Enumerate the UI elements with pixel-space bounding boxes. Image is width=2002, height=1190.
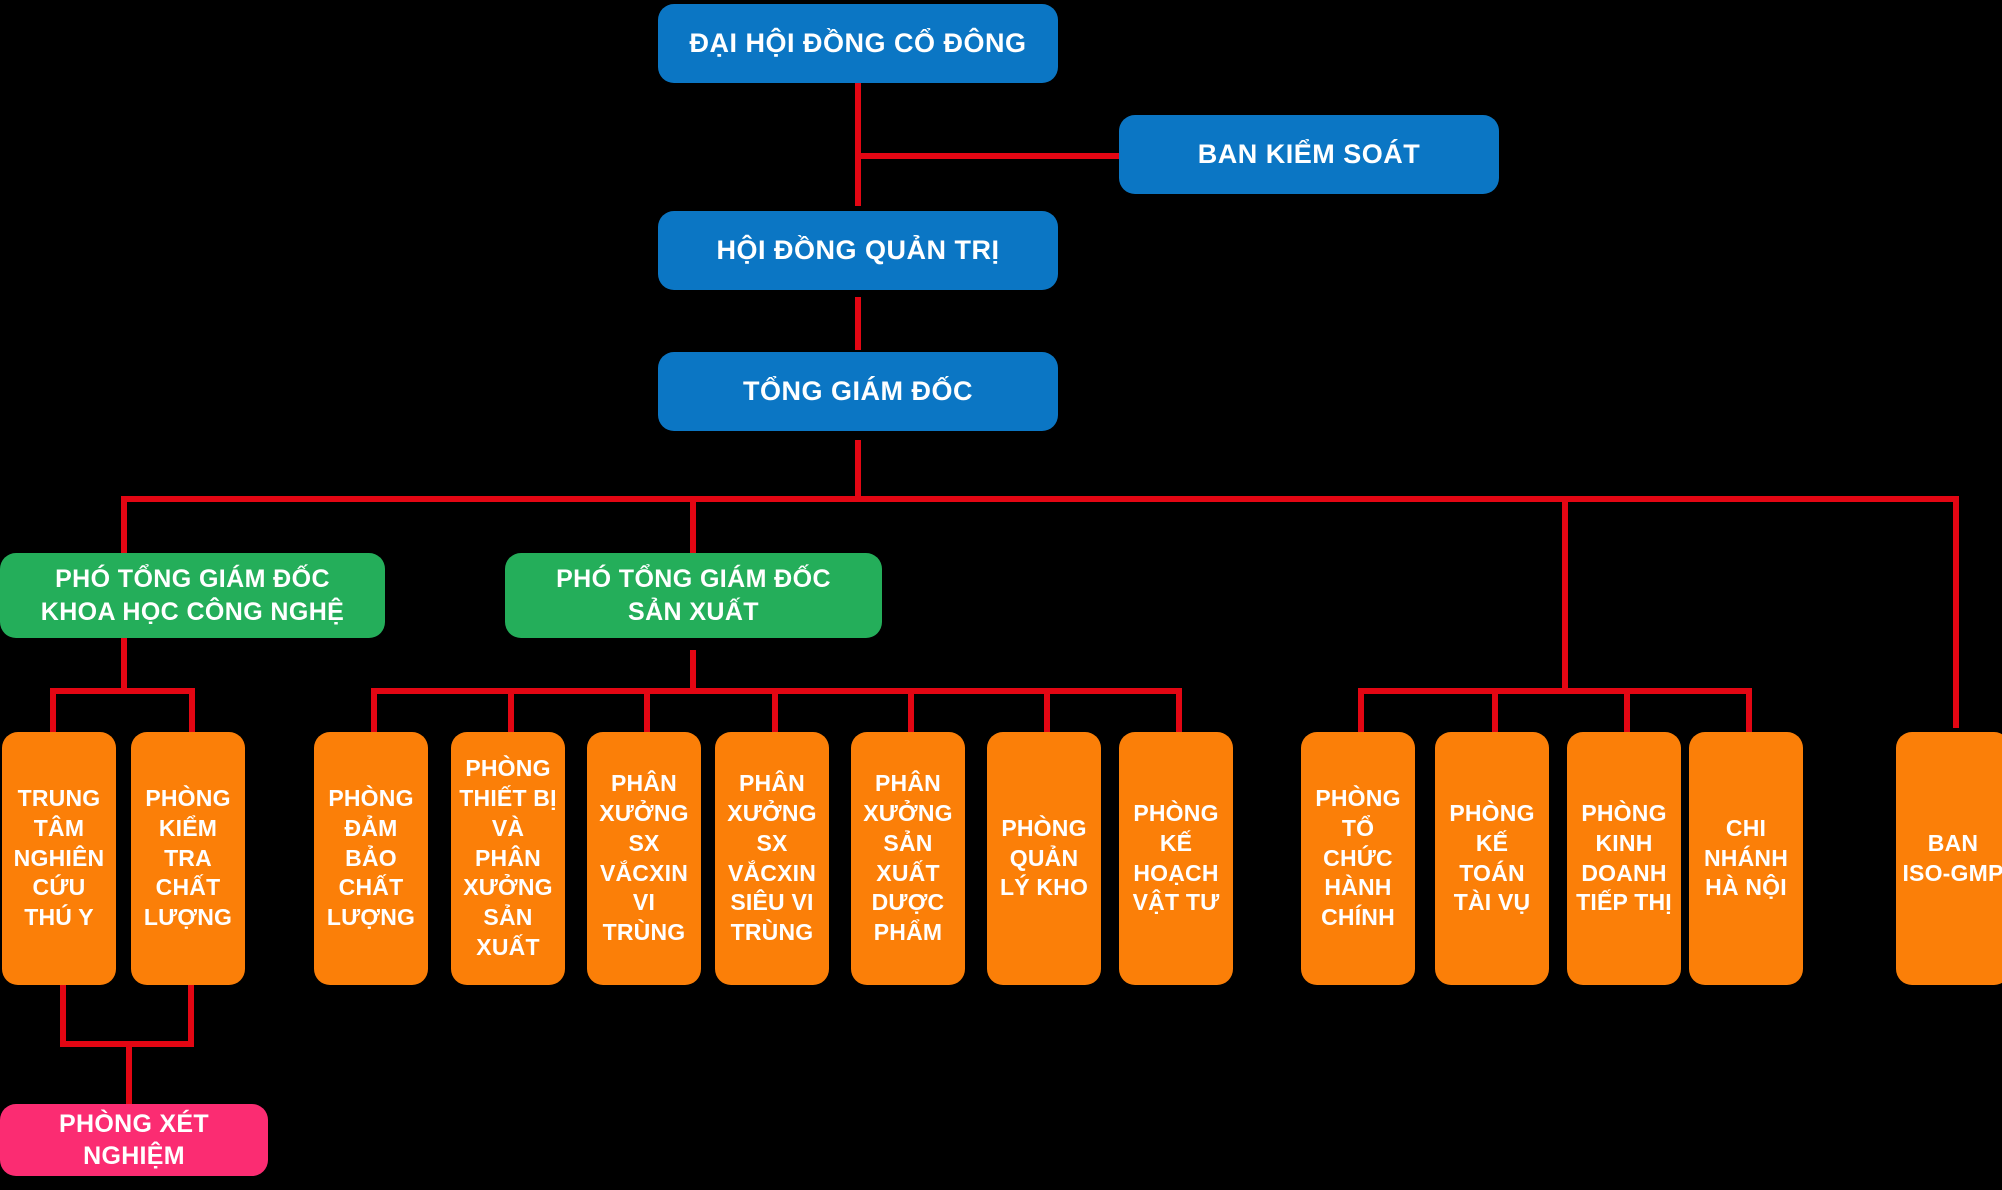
node-label-line1: PHÓ TỔNG GIÁM ĐỐC [6,563,379,596]
org-chart: ĐẠI HỘI ĐỒNG CỔ ĐÔNG BAN KIỂM SOÁT HỘI Đ… [0,0,2002,1190]
connector-deputy-science-down [121,635,127,692]
connector-drop-trung-tam [50,688,56,734]
connector-lab-down [126,1041,132,1113]
node-label: PHÒNG THIẾT BỊ VÀ PHÂN XƯỞNG SẢN XUẤT [457,754,559,963]
connector-shareholders-down [855,78,861,156]
node-label: PHÒNG KẾ HOẠCH VẬT TƯ [1125,799,1227,919]
connector-lab-right-up [188,983,194,1047]
connector-board-to-gd [855,297,861,350]
connector-drop-dam-bao [371,688,377,734]
connector-drop-to-chuc [1358,688,1364,734]
node-label: PHÒNG KINH DOANH TIẾP THỊ [1573,799,1675,919]
node-label-line2: KHOA HỌC CÔNG NGHỆ [6,596,379,629]
connector-drop-vacxin-sieuvitrung [772,688,778,734]
node-label: BAN KIỂM SOÁT [1125,137,1493,172]
node-shareholders-meeting[interactable]: ĐẠI HỘI ĐỒNG CỔ ĐÔNG [658,4,1058,83]
node-dept-phong-to-chuc-hanh-chinh[interactable]: PHÒNG TỔ CHỨC HÀNH CHÍNH [1301,732,1415,985]
node-label: PHÓ TỔNG GIÁM ĐỐCSẢN XUẤT [511,563,876,628]
node-dept-phong-ke-hoach-vat-tu[interactable]: PHÒNG KẾ HOẠCH VẬT TƯ [1119,732,1233,985]
node-dept-ban-iso-gmp[interactable]: BAN ISO-GMP [1896,732,2002,985]
node-label: PHÒNG ĐẢM BẢO CHẤT LƯỢNG [320,784,422,933]
node-board-of-directors[interactable]: HỘI ĐỒNG QUẢN TRỊ [658,211,1058,290]
node-label: CHI NHÁNH HÀ NỘI [1695,814,1797,904]
node-dept-phong-quan-ly-kho[interactable]: PHÒNG QUẢN LÝ KHO [987,732,1101,985]
node-general-director[interactable]: TỔNG GIÁM ĐỐC [658,352,1058,431]
connector-drop-duoc-pham [908,688,914,734]
node-label: PHÒNG KIỂM TRA CHẤT LƯỢNG [137,784,239,933]
node-label: PHÒNG TỔ CHỨC HÀNH CHÍNH [1307,784,1409,933]
connector-bus-science [50,688,195,694]
node-dept-phong-thiet-bi-va-phan-xuong-san-xuat[interactable]: PHÒNG THIẾT BỊ VÀ PHÂN XƯỞNG SẢN XUẤT [451,732,565,985]
node-label: PHÒNG KẾ TOÁN TÀI VỤ [1441,799,1543,919]
connector-lab-left-up [60,983,66,1047]
node-lab-department[interactable]: PHÒNG XÉT NGHIỆM [0,1104,268,1176]
connector-drop-admin-group [1562,496,1568,692]
connector-gd-down [855,440,861,502]
node-label: PHÒNG QUẢN LÝ KHO [993,814,1095,904]
node-deputy-director-production[interactable]: PHÓ TỔNG GIÁM ĐỐCSẢN XUẤT [505,553,882,638]
connector-bus-admin [1358,688,1752,694]
node-dept-phan-xuong-sx-vacxin-vi-trung[interactable]: PHÂN XƯỞNG SX VẮCXIN VI TRÙNG [587,732,701,985]
node-dept-phong-dam-bao-chat-luong[interactable]: PHÒNG ĐẢM BẢO CHẤT LƯỢNG [314,732,428,985]
connector-drop-thiet-bi [508,688,514,734]
connector-main-bus [121,496,1959,502]
node-deputy-director-science[interactable]: PHÓ TỔNG GIÁM ĐỐCKHOA HỌC CÔNG NGHỆ [0,553,385,638]
connector-supervisory-horizontal [855,153,1120,159]
node-dept-phong-kinh-doanh-tiep-thi[interactable]: PHÒNG KINH DOANH TIẾP THỊ [1567,732,1681,985]
node-dept-phan-xuong-san-xuat-duoc-pham[interactable]: PHÂN XƯỞNG SẢN XUẤT DƯỢC PHẨM [851,732,965,985]
connector-drop-kiem-tra [189,688,195,734]
node-label: PHÂN XƯỞNG SX VẮCXIN SIÊU VI TRÙNG [721,769,823,948]
node-label: PHÂN XƯỞNG SẢN XUẤT DƯỢC PHẨM [857,769,959,948]
node-label: TỔNG GIÁM ĐỐC [664,374,1052,409]
connector-drop-chi-nhanh [1746,688,1752,734]
node-label: BAN ISO-GMP [1902,829,2002,889]
node-label: PHÓ TỔNG GIÁM ĐỐCKHOA HỌC CÔNG NGHỆ [6,563,379,628]
node-label-line2: SẢN XUẤT [511,596,876,629]
connector-shareholders-to-board [855,153,861,206]
node-supervisory-board[interactable]: BAN KIỂM SOÁT [1119,115,1499,194]
node-dept-phong-kiem-tra-chat-luong[interactable]: PHÒNG KIỂM TRA CHẤT LƯỢNG [131,732,245,985]
connector-drop-quan-ly-kho [1044,688,1050,734]
connector-drop-ke-hoach [1176,688,1182,734]
connector-drop-ban-iso [1953,496,1959,728]
node-label: HỘI ĐỒNG QUẢN TRỊ [664,233,1052,268]
node-label: PHÂN XƯỞNG SX VẮCXIN VI TRÙNG [593,769,695,948]
connector-drop-vacxin-vitrung [644,688,650,734]
node-label: TRUNG TÂM NGHIÊN CỨU THÚ Y [8,784,110,933]
node-dept-chi-nhanh-ha-noi[interactable]: CHI NHÁNH HÀ NỘI [1689,732,1803,985]
node-dept-phan-xuong-sx-vacxin-sieu-vi-trung[interactable]: PHÂN XƯỞNG SX VẮCXIN SIÊU VI TRÙNG [715,732,829,985]
connector-drop-ke-toan [1492,688,1498,734]
node-dept-trung-tam-nghien-cuu-thu-y[interactable]: TRUNG TÂM NGHIÊN CỨU THÚ Y [2,732,116,985]
node-label: ĐẠI HỘI ĐỒNG CỔ ĐÔNG [664,26,1052,61]
node-label: PHÒNG XÉT NGHIỆM [6,1108,262,1173]
node-dept-phong-ke-toan-tai-vu[interactable]: PHÒNG KẾ TOÁN TÀI VỤ [1435,732,1549,985]
node-label-line1: PHÓ TỔNG GIÁM ĐỐC [511,563,876,596]
connector-drop-kinh-doanh [1624,688,1630,734]
